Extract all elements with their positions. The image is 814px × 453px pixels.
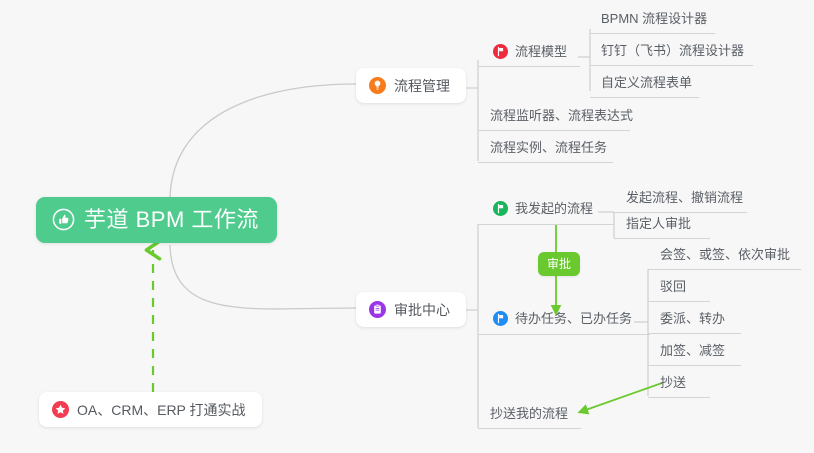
node-label-process-instance-task: 流程实例、流程任务 <box>490 140 607 156</box>
root-node-label: 芋道 BPM 工作流 <box>84 209 259 231</box>
approval-tag-label: 审批 <box>547 257 571 271</box>
underline-countersign-or-sequential <box>648 269 801 270</box>
underline-my-started-process <box>478 224 614 225</box>
branch-node-process-management[interactable]: 流程管理 <box>356 68 466 103</box>
node-label-carbon-copy: 抄送 <box>660 375 686 391</box>
underline-start-cancel-process <box>614 212 747 213</box>
root-node[interactable]: 芋道 BPM 工作流 <box>36 197 277 243</box>
node-bpmn-designer[interactable]: BPMN 流程设计器 <box>601 11 707 32</box>
node-label-start-cancel-process: 发起流程、撤销流程 <box>626 190 743 206</box>
node-label-dingtalk-feishu-designer: 钉钉（飞书）流程设计器 <box>601 43 744 59</box>
node-process-instance-task[interactable]: 流程实例、流程任务 <box>490 140 607 161</box>
mindmap-canvas: 芋道 BPM 工作流 流程管理 流程模型 BPMN 流程设计器 <box>0 0 814 453</box>
underline-custom-process-form <box>590 97 699 98</box>
node-todo-done-tasks[interactable]: 待办任务、已办任务 <box>493 311 632 332</box>
node-reject[interactable]: 驳回 <box>660 279 686 300</box>
node-delegate-transfer[interactable]: 委派、转办 <box>660 311 725 332</box>
callout-node-oa-crm-erp[interactable]: OA、CRM、ERP 打通实战 <box>39 392 262 427</box>
node-label-assignee-approval: 指定人审批 <box>626 216 691 232</box>
underline-bpmn-designer <box>590 33 715 34</box>
node-label-process-listener-expression: 流程监听器、流程表达式 <box>490 108 633 124</box>
flag-circle-icon <box>493 201 508 216</box>
node-my-started-process[interactable]: 我发起的流程 <box>493 201 593 222</box>
underline-assignee-approval <box>614 238 710 239</box>
node-label-countersign-or-sequential: 会签、或签、依次审批 <box>660 247 790 263</box>
branch-node-approval-center[interactable]: 审批中心 <box>356 292 466 327</box>
node-assignee-approval[interactable]: 指定人审批 <box>626 216 691 237</box>
node-label-my-started-process: 我发起的流程 <box>515 201 593 217</box>
branch-label-approval-center: 审批中心 <box>394 303 450 317</box>
node-label-reject: 驳回 <box>660 279 686 295</box>
underline-todo-done-tasks <box>478 334 650 335</box>
node-process-model[interactable]: 流程模型 <box>493 44 567 65</box>
node-label-todo-done-tasks: 待办任务、已办任务 <box>515 311 632 327</box>
underline-process-instance-task <box>478 162 613 163</box>
node-label-process-model: 流程模型 <box>515 44 567 60</box>
node-label-cc-to-me-process: 抄送我的流程 <box>490 406 568 422</box>
node-process-listener-expression[interactable]: 流程监听器、流程表达式 <box>490 108 633 129</box>
underline-process-listener-expression <box>478 130 630 131</box>
callout-label-oa-crm-erp: OA、CRM、ERP 打通实战 <box>77 403 246 417</box>
node-dingtalk-feishu-designer[interactable]: 钉钉（飞书）流程设计器 <box>601 43 744 64</box>
node-cc-to-me-process[interactable]: 抄送我的流程 <box>490 406 568 427</box>
node-label-bpmn-designer: BPMN 流程设计器 <box>601 11 707 27</box>
underline-process-model <box>478 66 580 67</box>
thumbs-up-circle-icon <box>52 208 75 231</box>
node-label-custom-process-form: 自定义流程表单 <box>601 75 692 91</box>
underline-delegate-transfer <box>648 333 741 334</box>
approval-tag-badge[interactable]: 审批 <box>538 252 580 276</box>
node-carbon-copy[interactable]: 抄送 <box>660 375 686 396</box>
underline-dingtalk-feishu-designer <box>590 65 753 66</box>
node-start-cancel-process[interactable]: 发起流程、撤销流程 <box>626 190 743 211</box>
branch-label-process-management: 流程管理 <box>394 79 450 93</box>
clipboard-circle-icon <box>369 301 386 318</box>
star-circle-icon <box>52 401 69 418</box>
underline-reject <box>648 301 710 302</box>
lightbulb-circle-icon <box>369 77 386 94</box>
underline-cc-to-me-process <box>478 428 581 429</box>
underline-add-remove-sign <box>648 365 741 366</box>
node-add-remove-sign[interactable]: 加签、减签 <box>660 343 725 364</box>
node-label-add-remove-sign: 加签、减签 <box>660 343 725 359</box>
flag-circle-icon <box>493 311 508 326</box>
flag-circle-icon <box>493 44 508 59</box>
underline-carbon-copy <box>648 397 710 398</box>
node-custom-process-form[interactable]: 自定义流程表单 <box>601 75 692 96</box>
node-countersign-or-sequential[interactable]: 会签、或签、依次审批 <box>660 247 790 268</box>
node-label-delegate-transfer: 委派、转办 <box>660 311 725 327</box>
